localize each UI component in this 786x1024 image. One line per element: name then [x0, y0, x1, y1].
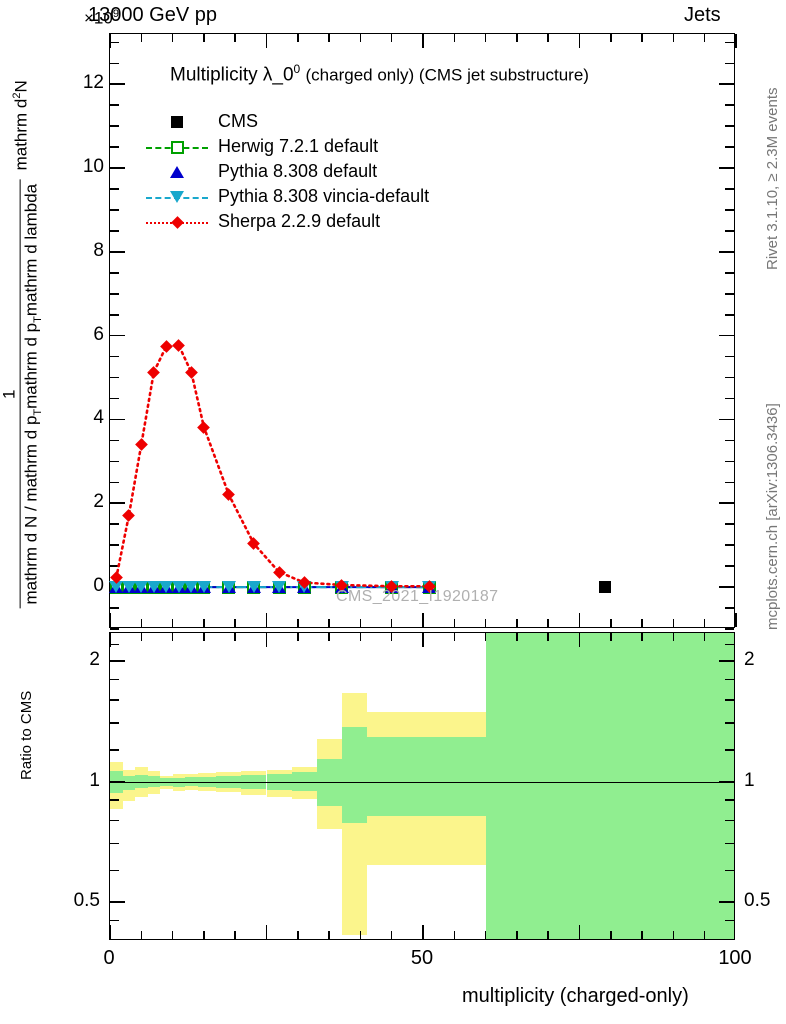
legend-entry[interactable]: CMS — [146, 110, 476, 135]
legend-label: Pythia 8.308 default — [218, 161, 377, 182]
y-axis-title: 1 mathrm d N / mathrm d pTmathrm d pTmat… — [0, 44, 44, 644]
y-tick-label: 0 — [64, 575, 104, 597]
ratio-x-tick-mark — [516, 931, 518, 939]
ratio-x-tick-mark — [579, 633, 581, 647]
marker-square-filled — [171, 116, 183, 128]
y-tick-label: 10 — [64, 156, 104, 178]
ratio-y-tick-mark — [110, 901, 125, 903]
ratio-y-tick-label: 1 — [89, 770, 100, 792]
ratio-x-tick-mark — [203, 633, 205, 641]
marker-triangle-down — [222, 581, 236, 593]
ratio-x-tick-mark — [422, 633, 424, 647]
ratio-y-tick-mark — [719, 660, 734, 662]
ratio-x-tick-mark — [673, 931, 675, 939]
ratio-uncertainty-band-green — [367, 737, 417, 816]
ratio-x-tick-mark — [141, 633, 143, 641]
ratio-x-tick-mark — [704, 633, 706, 641]
y-tick-label: 8 — [64, 240, 104, 262]
marker-square-open — [171, 141, 184, 154]
ratio-x-tick-mark — [109, 633, 111, 647]
analysis-category-label: Jets — [684, 4, 721, 27]
ratio-y-tick-mark — [725, 920, 734, 922]
marker-diamond — [171, 216, 184, 229]
marker-triangle-down — [247, 581, 261, 593]
ratio-y-tick-mark — [719, 781, 734, 783]
ratio-x-tick-mark — [360, 633, 362, 641]
ratio-y-tick-mark — [725, 699, 734, 701]
ratio-y-tick-mark — [110, 781, 125, 783]
ratio-y-tick-label: 0.5 — [744, 890, 770, 912]
mcplots-source-label: mcplots.cern.ch [arXiv:1306.3436] — [764, 403, 781, 630]
ratio-x-tick-mark — [610, 931, 612, 939]
legend-key — [146, 210, 208, 235]
x-tick-label: 100 — [718, 947, 751, 970]
legend-key — [146, 110, 208, 135]
ratio-y-tick-mark — [725, 679, 734, 681]
ratio-y-tick-mark — [725, 870, 734, 872]
legend-label: Sherpa 2.2.9 default — [218, 211, 380, 232]
marker-square-filled — [599, 581, 611, 593]
ratio-y-tick-mark — [110, 799, 119, 801]
ratio-y-tick-mark — [110, 870, 119, 872]
ratio-x-tick-mark — [454, 931, 456, 939]
ratio-y-tick-mark — [110, 920, 119, 922]
ratio-x-tick-mark — [266, 633, 268, 647]
ratio-x-tick-mark — [234, 931, 236, 939]
ratio-x-tick-mark — [641, 633, 643, 641]
x-axis-title: multiplicity (charged-only) — [462, 985, 689, 1008]
ratio-y-tick-mark — [110, 679, 119, 681]
legend: CMSHerwig 7.2.1 defaultPythia 8.308 defa… — [146, 110, 476, 235]
ratio-x-tick-mark — [485, 931, 487, 939]
y-tick-label: 12 — [64, 72, 104, 94]
ratio-y-tick-label: 2 — [744, 649, 755, 671]
ratio-y-tick-label: 0.5 — [74, 890, 100, 912]
ratio-y-tick-labels-right: 210.5 — [740, 632, 786, 940]
ratio-y-tick-mark — [110, 699, 119, 701]
ratio-x-tick-mark — [673, 633, 675, 641]
ratio-y-tick-mark — [725, 843, 734, 845]
ratio-x-tick-mark — [391, 931, 393, 939]
legend-label: Herwig 7.2.1 default — [218, 136, 378, 157]
ratio-reference-line — [110, 782, 734, 784]
ratio-uncertainty-band-green — [486, 633, 735, 940]
legend-label: CMS — [218, 111, 258, 132]
ratio-y-tick-labels-left: 210.5 — [58, 632, 104, 940]
y-tick-label: 4 — [64, 407, 104, 429]
legend-entry[interactable]: Sherpa 2.2.9 default — [146, 210, 476, 235]
y-axis-tick-labels-main: 024681012 — [60, 33, 104, 628]
y-tick-label: 6 — [64, 324, 104, 346]
ratio-x-tick-mark — [579, 925, 581, 939]
legend-entry[interactable]: Pythia 8.308 default — [146, 160, 476, 185]
ratio-x-tick-mark — [516, 633, 518, 641]
ratio-y-tick-mark — [725, 820, 734, 822]
ratio-y-tick-mark — [725, 749, 734, 751]
ratio-x-tick-mark — [485, 633, 487, 641]
marker-triangle-down — [170, 191, 184, 203]
ratio-y-tick-mark — [725, 722, 734, 724]
ratio-y-tick-mark — [110, 820, 119, 822]
ratio-x-tick-mark — [297, 931, 299, 939]
ratio-x-tick-mark — [172, 633, 174, 641]
ratio-x-tick-mark — [234, 633, 236, 641]
legend-label: Pythia 8.308 vincia-default — [218, 186, 429, 207]
ratio-x-tick-mark — [172, 931, 174, 939]
beam-energy-label: 13000 GeV pp — [88, 4, 217, 27]
ratio-x-tick-mark — [328, 633, 330, 641]
ratio-plot-panel — [109, 632, 735, 940]
marker-triangle-up — [170, 166, 184, 178]
ratio-x-tick-mark — [422, 925, 424, 939]
ratio-y-tick-mark — [725, 799, 734, 801]
ratio-y-tick-mark — [110, 644, 119, 646]
x-tick-label: 0 — [103, 947, 114, 970]
ratio-x-tick-mark — [266, 925, 268, 939]
ratio-y-tick-mark — [110, 660, 125, 662]
ratio-x-tick-mark — [547, 931, 549, 939]
ratio-x-tick-mark — [109, 925, 111, 939]
y-tick-label: 2 — [64, 491, 104, 513]
ratio-uncertainty-band-green — [417, 737, 486, 816]
ratio-x-tick-mark — [328, 931, 330, 939]
ratio-uncertainty-band-green — [342, 727, 367, 823]
plot-title: Multiplicity λ_00 (charged only) (CMS je… — [170, 62, 589, 86]
ratio-axis-title: Ratio to CMS — [18, 691, 35, 780]
ratio-x-tick-mark — [141, 931, 143, 939]
ratio-x-tick-mark — [391, 633, 393, 641]
rivet-version-label: Rivet 3.1.10, ≥ 2.3M events — [764, 88, 781, 271]
legend-entry[interactable]: Herwig 7.2.1 default — [146, 135, 476, 160]
ratio-x-tick-mark — [641, 931, 643, 939]
ratio-x-tick-mark — [610, 633, 612, 641]
ratio-x-tick-mark — [203, 931, 205, 939]
ratio-x-tick-mark — [454, 633, 456, 641]
x-tick-label: 50 — [411, 947, 433, 970]
legend-key — [146, 160, 208, 185]
legend-key — [146, 185, 208, 210]
ratio-x-tick-mark — [704, 931, 706, 939]
ratio-x-tick-mark — [297, 633, 299, 641]
ratio-y-tick-mark — [110, 749, 119, 751]
marker-triangle-down — [272, 581, 286, 593]
ratio-x-tick-mark — [547, 633, 549, 641]
ratio-y-tick-mark — [725, 644, 734, 646]
legend-key — [146, 135, 208, 160]
ratio-y-tick-mark — [719, 901, 734, 903]
ratio-y-tick-mark — [110, 843, 119, 845]
marker-triangle-down — [197, 581, 211, 593]
analysis-id-watermark: CMS_2021_I1920187 — [336, 588, 498, 606]
ratio-y-tick-label: 2 — [89, 649, 100, 671]
ratio-y-tick-label: 1 — [744, 770, 755, 792]
ratio-x-tick-mark — [360, 931, 362, 939]
legend-entry[interactable]: Pythia 8.308 vincia-default — [146, 185, 476, 210]
ratio-y-tick-mark — [110, 722, 119, 724]
